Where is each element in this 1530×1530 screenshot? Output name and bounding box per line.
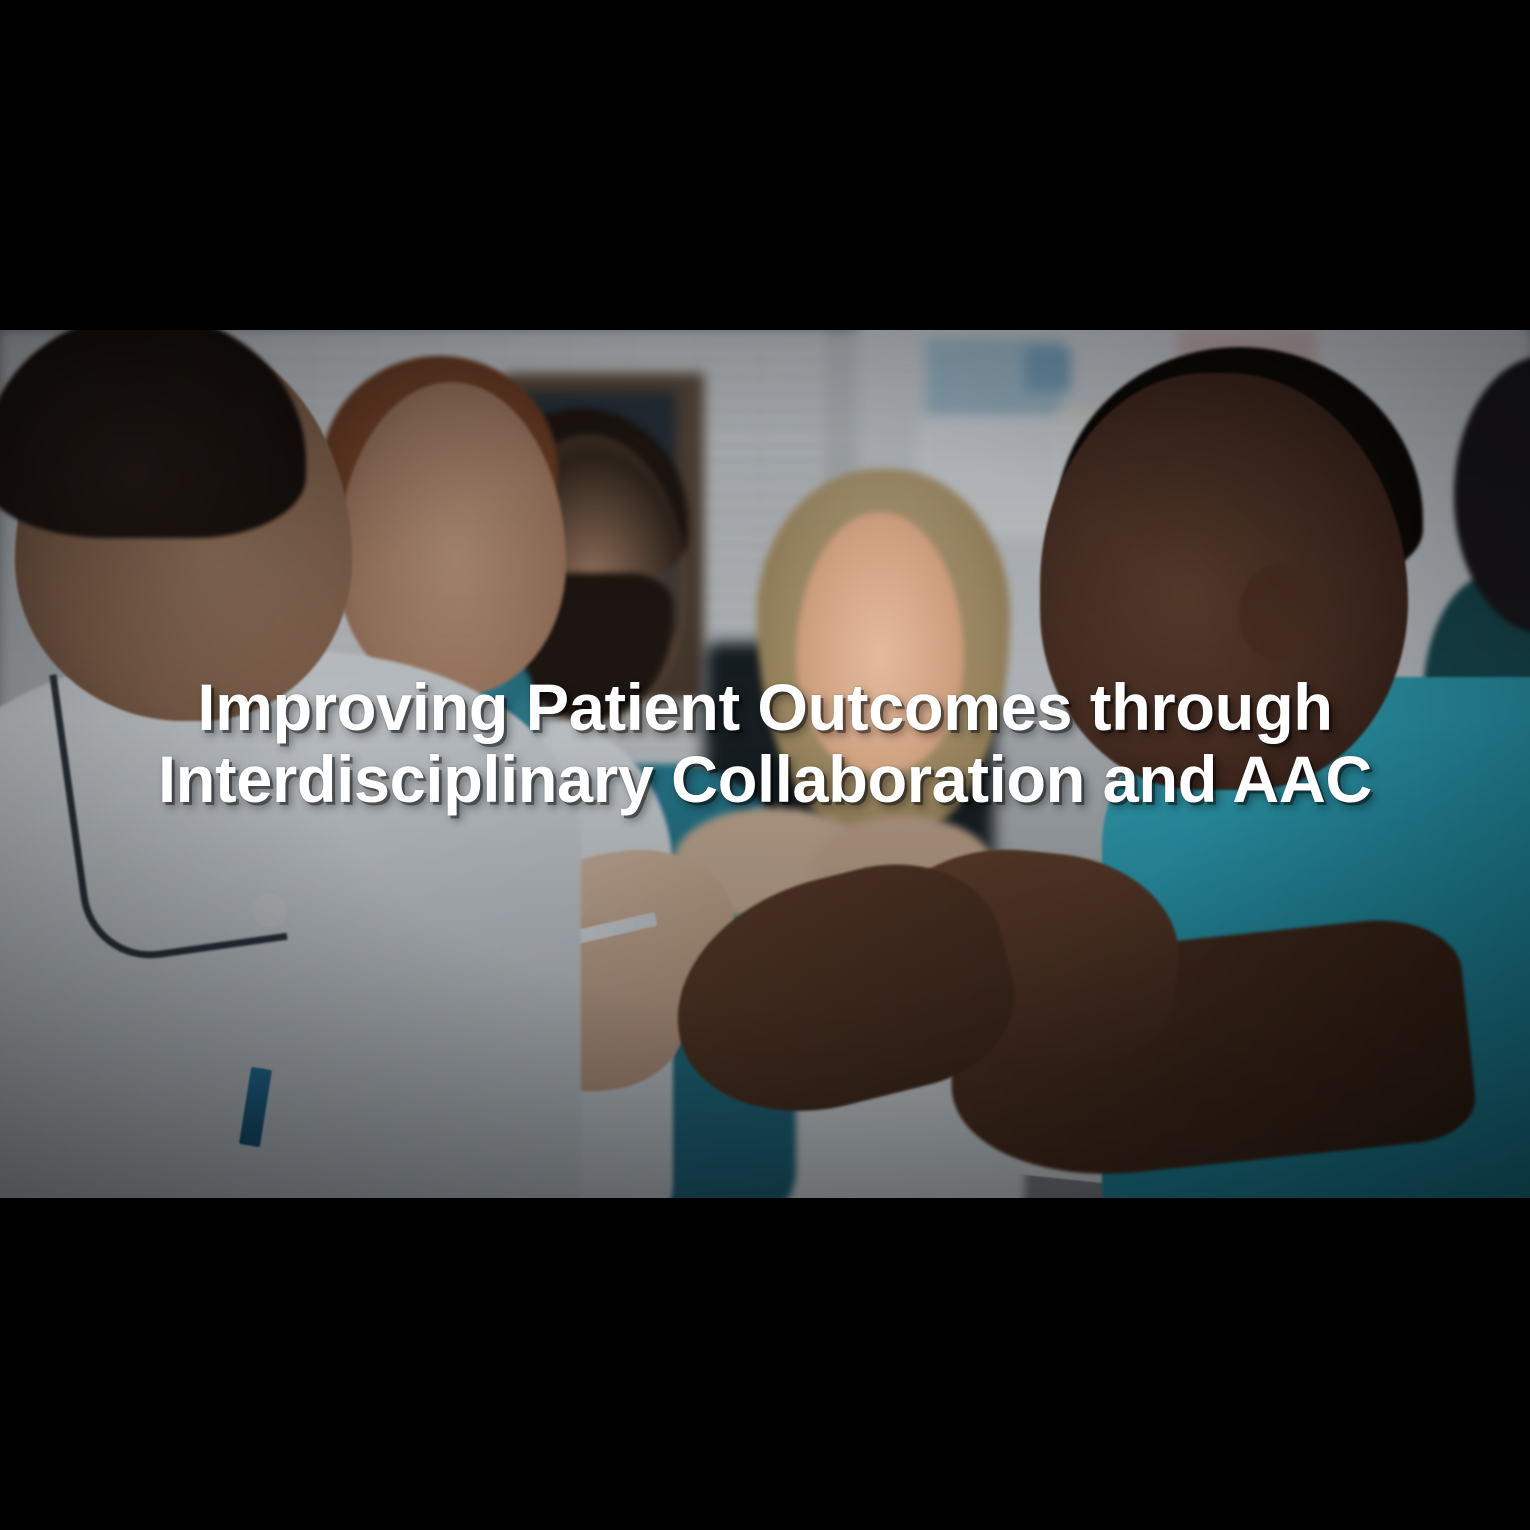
letterbox-bar-top [0, 0, 1530, 330]
hero-banner: Improving Patient Outcomes through Inter… [0, 0, 1530, 1530]
title-line-1: Improving Patient Outcomes through [51, 672, 1479, 744]
letterbox-bar-bottom [0, 1198, 1530, 1530]
banner-title: Improving Patient Outcomes through Inter… [0, 672, 1530, 815]
title-line-2: Interdisciplinary Collaboration and AAC [51, 744, 1479, 816]
